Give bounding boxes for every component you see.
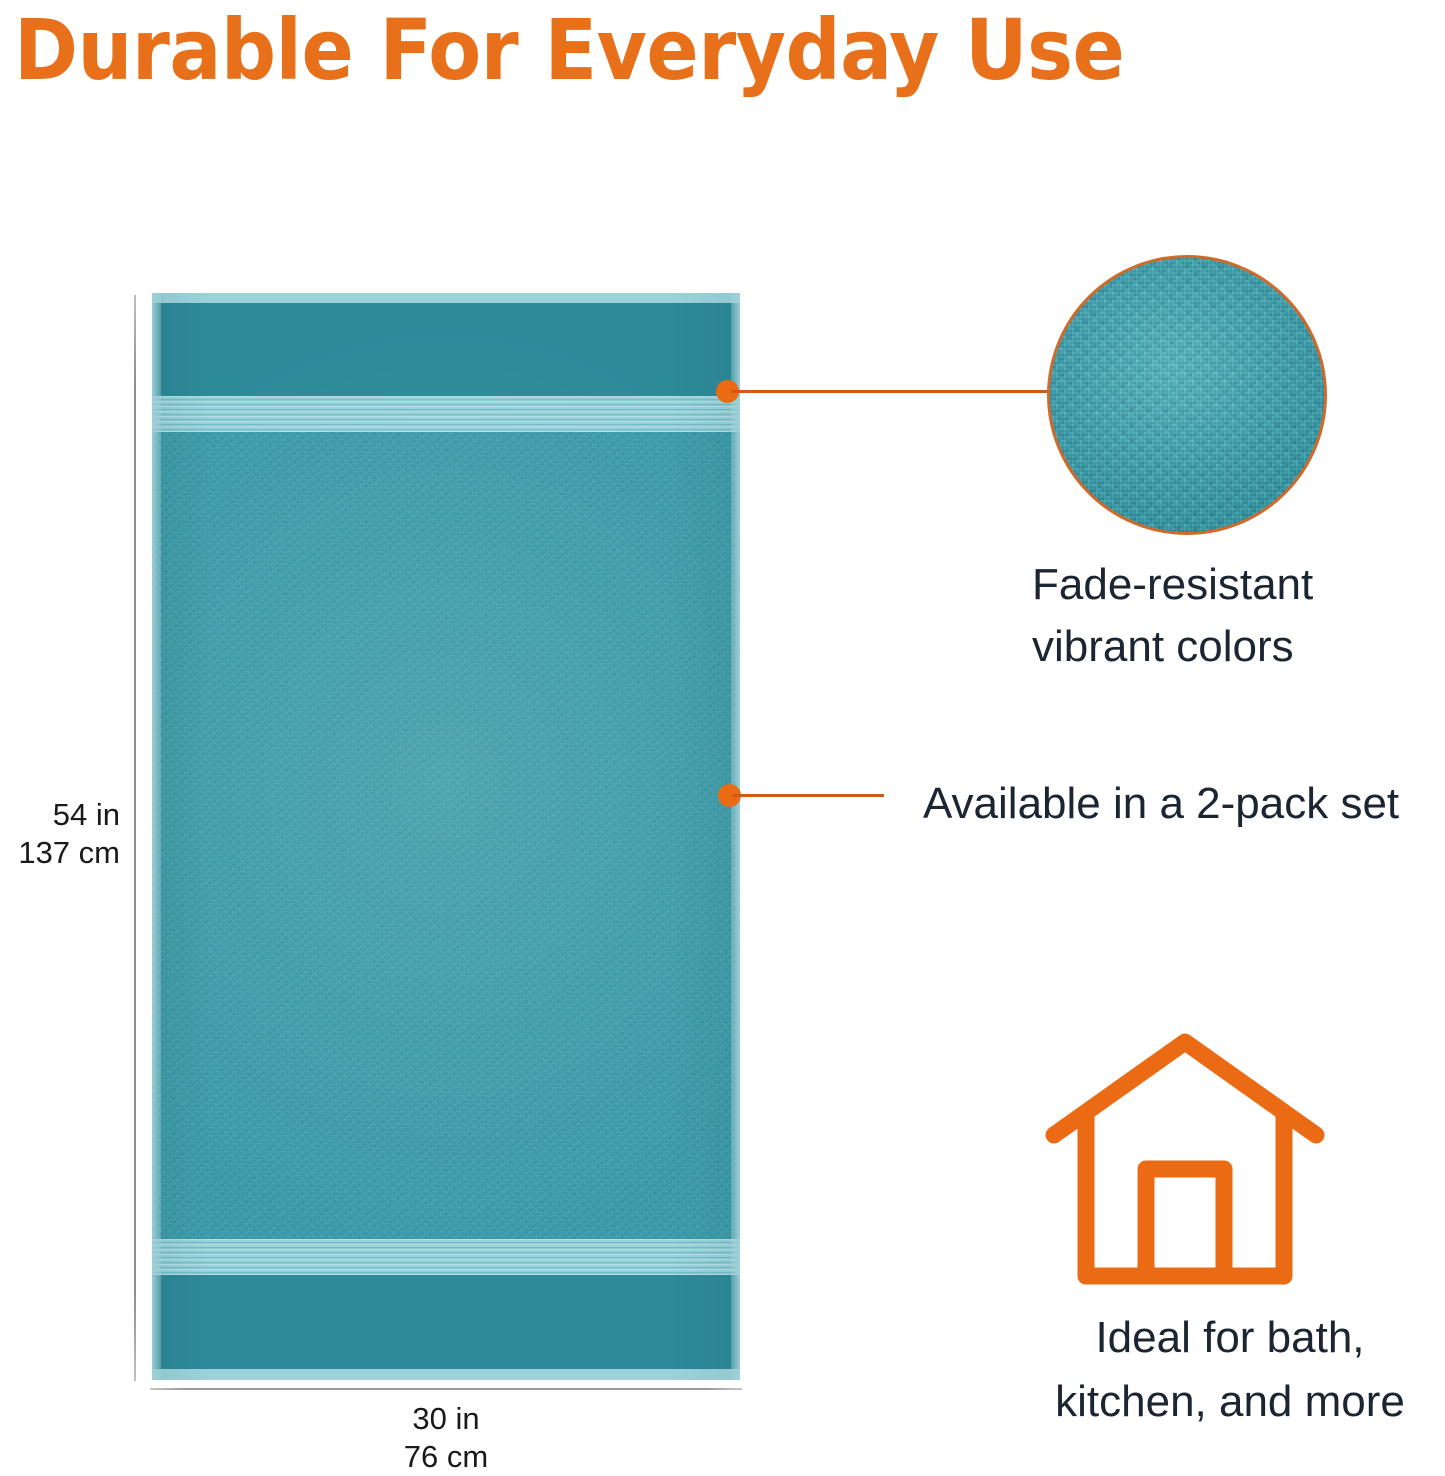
towel-shading [152,293,740,1380]
towel-body [152,293,740,1380]
height-dimension-label: 54 in 137 cm [2,796,120,872]
callout-leader-line-fade-resistant [731,390,1049,393]
width-dimension-label: 30 in 76 cm [326,1400,566,1476]
house-icon [1040,1028,1330,1293]
width-guide-line [150,1388,742,1390]
callout-text-two-pack: Available in a 2-pack set [923,773,1445,835]
callout-leader-line-two-pack [733,794,884,797]
magnifier-shading [1050,258,1324,532]
magnifier-circle-fabric-texture [1047,255,1327,535]
product-image-towel [152,293,740,1380]
callout-text-fade-resistant: Fade-resistant vibrant colors [1032,554,1445,678]
page-title: Durable For Everyday Use [14,0,1445,102]
usage-text: Ideal for bath, kitchen, and more [1040,1306,1420,1434]
height-guide-line [134,295,136,1381]
